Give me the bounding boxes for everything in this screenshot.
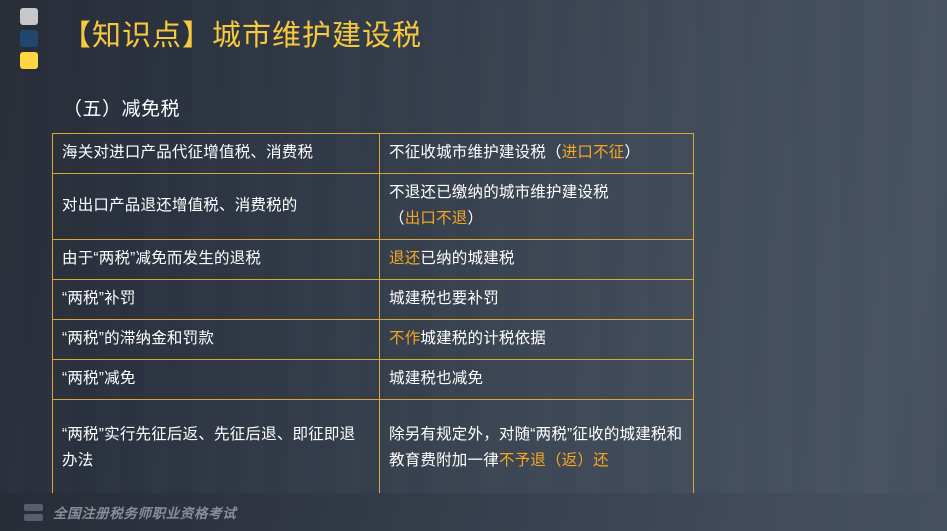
table-cell-condition: 由于“两税”减免而发生的退税	[53, 240, 380, 280]
plain-text: ）	[625, 144, 641, 161]
tax-exemption-table: 海关对进口产品代征增值税、消费税不征收城市维护建设税（进口不征）对出口产品退还增…	[52, 133, 694, 531]
highlighted-text: 不作	[389, 330, 420, 347]
table-row: “两税”减免城建税也减免	[53, 360, 694, 400]
table-cell-treatment: 除另有规定外，对随“两税”征收的城建税和教育费附加一律不予退（返）还	[380, 400, 694, 498]
table-cell-condition: 对出口产品退还增值税、消费税的	[53, 174, 380, 240]
table-body: 海关对进口产品代征增值税、消费税不征收城市维护建设税（进口不征）对出口产品退还增…	[53, 134, 694, 531]
page-title: 【知识点】城市维护建设税	[62, 16, 422, 56]
table-cell-treatment: 退还已纳的城建税	[380, 240, 694, 280]
highlighted-text: 不予退（返）还	[499, 452, 609, 469]
table-cell-treatment: 不征收城市维护建设税（进口不征）	[380, 134, 694, 174]
table-row: “两税”的滞纳金和罚款不作城建税的计税依据	[53, 320, 694, 360]
highlighted-text: 进口不征	[562, 144, 625, 161]
decorative-squares	[20, 8, 40, 69]
square-blue-icon	[20, 30, 38, 47]
table-row: “两税”实行先征后返、先征后退、即征即退办法除另有规定外，对随“两税”征收的城建…	[53, 400, 694, 498]
footer-bar: 全国注册税务师职业资格考试	[0, 493, 947, 531]
section-heading: （五）减免税	[63, 98, 180, 122]
stacked-bars-icon	[24, 504, 43, 521]
plain-text: 已纳的城建税	[420, 250, 514, 267]
plain-text: 不退还已缴纳的城市维护建设税	[389, 184, 609, 201]
plain-text: 不征收城市维护建设税（	[389, 144, 562, 161]
plain-text: （	[389, 210, 405, 227]
slide-canvas: 【知识点】城市维护建设税 （五）减免税 海关对进口产品代征增值税、消费税不征收城…	[0, 0, 947, 531]
table-cell-condition: “两税”补罚	[53, 280, 380, 320]
table-cell-condition: 海关对进口产品代征增值税、消费税	[53, 134, 380, 174]
table-row: 海关对进口产品代征增值税、消费税不征收城市维护建设税（进口不征）	[53, 134, 694, 174]
table-cell-condition: “两税”实行先征后返、先征后退、即征即退办法	[53, 400, 380, 498]
table-cell-condition: “两税”减免	[53, 360, 380, 400]
highlighted-text: 退还	[389, 250, 420, 267]
plain-text: ）	[468, 210, 484, 227]
table-cell-treatment: 不退还已缴纳的城市维护建设税（出口不退）	[380, 174, 694, 240]
table-cell-condition: “两税”的滞纳金和罚款	[53, 320, 380, 360]
highlighted-text: 出口不退	[405, 210, 468, 227]
table-row: 由于“两税”减免而发生的退税退还已纳的城建税	[53, 240, 694, 280]
table-cell-treatment: 城建税也减免	[380, 360, 694, 400]
square-gray-icon	[20, 8, 38, 25]
footer-label: 全国注册税务师职业资格考试	[53, 502, 236, 522]
plain-text: 城建税的计税依据	[420, 330, 546, 347]
table-cell-treatment: 不作城建税的计税依据	[380, 320, 694, 360]
square-yellow-icon	[20, 52, 38, 69]
table-row: “两税”补罚城建税也要补罚	[53, 280, 694, 320]
table-cell-treatment: 城建税也要补罚	[380, 280, 694, 320]
plain-text: 城建税也要补罚	[389, 290, 499, 307]
table-row: 对出口产品退还增值税、消费税的不退还已缴纳的城市维护建设税（出口不退）	[53, 174, 694, 240]
plain-text: 城建税也减免	[389, 370, 483, 387]
